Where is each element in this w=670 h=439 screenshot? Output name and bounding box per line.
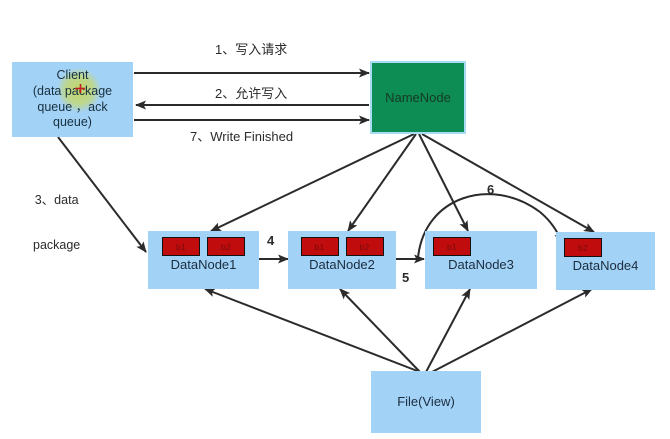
datanode3-label: DataNode3 bbox=[425, 258, 537, 273]
edge-file-to-datanode2 bbox=[340, 289, 420, 372]
client-detail-3: queue) bbox=[33, 115, 112, 131]
file-view-label: File(View) bbox=[397, 395, 455, 410]
edge-label-step3-line1: 3、data bbox=[33, 193, 80, 208]
datanode1-node[interactable]: b1 b2 DataNode1 bbox=[148, 231, 259, 289]
datanode4-node[interactable]: b2 DataNode4 bbox=[556, 232, 655, 290]
edge-file-to-datanode1 bbox=[205, 289, 420, 372]
namenode-label: NameNode bbox=[385, 90, 451, 105]
edge-namenode-to-datanode3 bbox=[419, 134, 468, 231]
block-b1: b1 bbox=[433, 237, 471, 256]
edge-label-step6: 6 bbox=[487, 182, 494, 198]
datanode4-blocks: b2 bbox=[556, 238, 655, 257]
edge-label-step7: 7、Write Finished bbox=[190, 129, 293, 145]
edge-file-to-datanode4 bbox=[432, 289, 592, 372]
edge-namenode-to-datanode4 bbox=[422, 134, 594, 232]
datanode2-label: DataNode2 bbox=[288, 258, 396, 273]
datanode1-label: DataNode1 bbox=[148, 258, 259, 273]
edge-label-step4: 4 bbox=[267, 233, 274, 249]
client-title: Client bbox=[33, 68, 112, 84]
client-detail-2: queue ，ack bbox=[33, 100, 112, 116]
edge-namenode-to-datanode1 bbox=[211, 134, 414, 231]
mouse-cursor-icon bbox=[74, 82, 87, 95]
edge-file-to-datanode3 bbox=[426, 289, 470, 372]
block-b2: b2 bbox=[207, 237, 245, 256]
edge-label-step3-line2: package bbox=[33, 238, 80, 253]
client-detail-1: (data package bbox=[33, 84, 112, 100]
client-label: Client (data package queue ，ack queue) bbox=[33, 68, 112, 131]
datanode2-node[interactable]: b1 b2 DataNode2 bbox=[288, 231, 396, 289]
edge-label-step5: 5 bbox=[402, 270, 409, 286]
edge-label-step1: 1、写入请求 bbox=[215, 42, 287, 58]
edge-label-step2: 2、允许写入 bbox=[215, 86, 287, 102]
datanode1-blocks: b1 b2 bbox=[148, 237, 259, 256]
block-b2: b2 bbox=[346, 237, 384, 256]
datanode2-blocks: b1 b2 bbox=[288, 237, 396, 256]
block-b1: b1 bbox=[301, 237, 339, 256]
namenode-node[interactable]: NameNode bbox=[370, 61, 466, 134]
diagram-canvas: Client (data package queue ，ack queue) N… bbox=[0, 0, 670, 439]
datanode3-node[interactable]: b1 DataNode3 bbox=[425, 231, 537, 289]
block-b2: b2 bbox=[564, 238, 602, 257]
edge-label-step3: 3、data package bbox=[33, 163, 80, 283]
client-node[interactable]: Client (data package queue ，ack queue) bbox=[12, 62, 133, 137]
datanode4-label: DataNode4 bbox=[556, 259, 655, 274]
datanode3-blocks: b1 bbox=[425, 237, 537, 256]
block-b1: b1 bbox=[162, 237, 200, 256]
file-view-node[interactable]: File(View) bbox=[371, 371, 481, 433]
